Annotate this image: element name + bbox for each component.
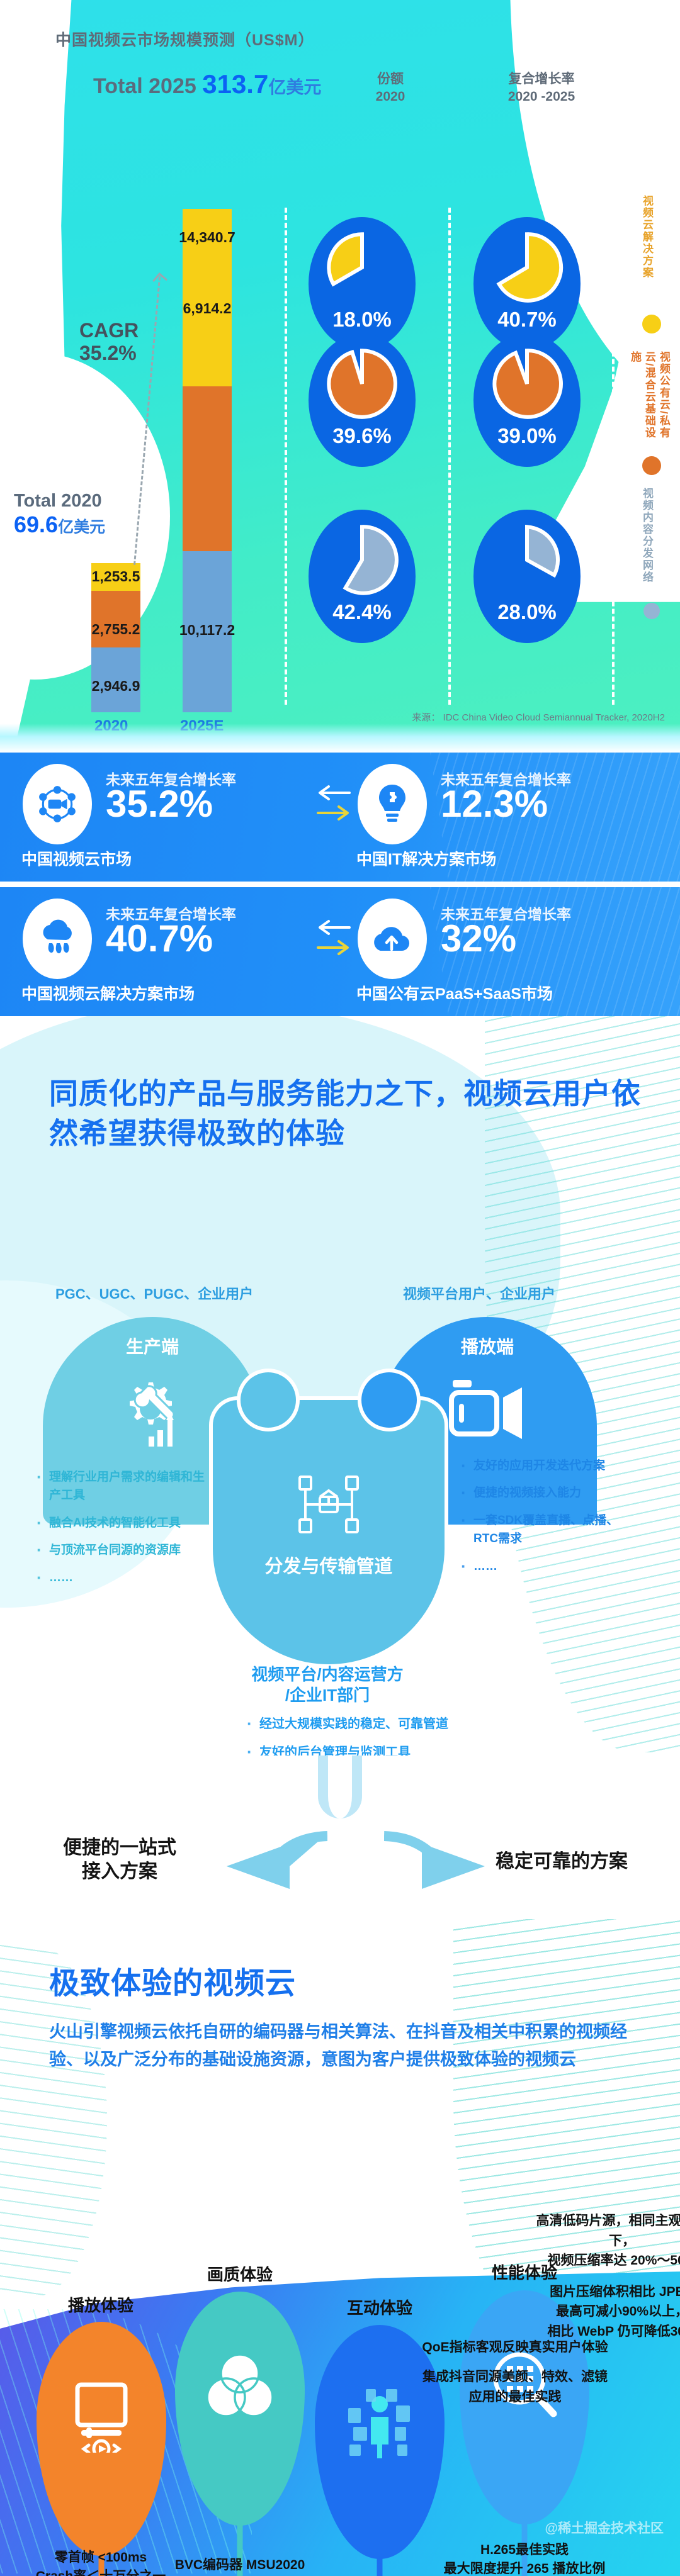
stat-value: 12.3% (441, 785, 548, 823)
pie-share-cdn: 42.4% (309, 510, 416, 643)
list-item: …… (35, 1569, 208, 1587)
stat-card-video-cloud-solution-market: 未来五年复合增长率 40.7% 中国视频云解决方案市场 (18, 887, 326, 1016)
puzzle-notch-left (241, 1372, 296, 1428)
card-body-performance: H.265最佳实践 最大限度提升 265 播放比例 (444, 2541, 606, 2576)
list-item: 一套SDK覆盖直播、点播、RTC需求 (460, 1511, 633, 1548)
chart-source-note: 来源： IDC China Video Cloud Semiannual Tra… (412, 710, 665, 724)
card-line: 应用的最佳实践 (383, 2387, 647, 2408)
divider-dashed-3 (612, 208, 615, 705)
swap-arrows-icon (315, 917, 353, 961)
card-title-quality: 画质体验 (207, 2262, 273, 2285)
arrow-left-icon (208, 1830, 327, 1899)
card-line: H.265最佳实践 (444, 2541, 606, 2560)
bar-2020-label-infra: 2,755.2 (92, 621, 140, 638)
legend-dot-solution (642, 315, 661, 333)
card-line: 图片压缩体积相比 JPEG (528, 2282, 680, 2302)
stat-value: 32% (441, 920, 516, 958)
watermark: @稀土掘金技术社区 (545, 2518, 664, 2537)
stat-value: 35.2% (106, 785, 213, 823)
cloud-upload-icon (358, 899, 427, 979)
column-head-cagr: 复合增长率 2020 -2025 (463, 70, 620, 106)
card-line: 最大限度提升 265 播放比例 (444, 2560, 606, 2576)
final-section-description: 火山引擎视频云依托自研的编码器与相关算法、在抖音及相关中积累的视频经验、以及广泛… (49, 2019, 635, 2073)
bar-2020-label-solution: 1,253.5 (92, 568, 140, 585)
pie-cagr-infra-value: 39.0% (473, 424, 581, 448)
total-2025-prefix: Total 2025 (93, 74, 196, 98)
swap-arrows-icon (315, 783, 353, 827)
split-stem-shape (318, 1756, 362, 1818)
card-title-interaction: 互动体验 (347, 2295, 412, 2319)
cagr-head-line1: 复合增长率 (463, 70, 620, 88)
market-forecast-chart-section: 中国视频云市场规模预测（US$M） Total 2025 313.7亿美元 份额… (0, 0, 680, 753)
pie-share-solution-value: 18.0% (309, 308, 416, 332)
legend-dot-cdn (643, 603, 660, 619)
share-head-line2: 2020 (327, 88, 453, 106)
total-2020-unit: 亿美元 (58, 518, 105, 536)
pie-slice-icon (489, 230, 565, 305)
stat-card-it-solution-market: 未来五年复合增长率 12.3% 中国IT解决方案市场 (353, 753, 661, 882)
card-title-playback: 播放体验 (68, 2293, 133, 2316)
card-line: QoE指标客观反映真实用户体验 (383, 2338, 647, 2358)
video-camera-icon (446, 1376, 528, 1447)
stat-band-2: 未来五年复合增长率 40.7% 中国视频云解决方案市场 未来五年复合增长率 32… (0, 887, 680, 1016)
stat-caption: 中国视频云解决方案市场 (21, 982, 195, 1004)
pie-cagr-infra: 39.0% (473, 333, 581, 467)
split-label-left-line1: 便捷的一站式 (38, 1836, 201, 1860)
center-audience-line1: 视频平台/内容运营方 (233, 1664, 422, 1685)
bar-2020-segment-infra: 2,755.2 (91, 591, 140, 647)
stat-band-1: 未来五年复合增长率 35.2% 中国视频云市场 未来五年复合增长率 12.3% … (0, 753, 680, 882)
lightbulb-puzzle-icon (358, 764, 427, 844)
split-label-left: 便捷的一站式 接入方案 (38, 1836, 201, 1883)
bar-2020-segment-solution: 1,253.5 (91, 563, 140, 591)
center-audience-line2: /企业IT部门 (233, 1685, 422, 1706)
venn-circles-icon (205, 2352, 275, 2423)
cagr-callout-value: 35.2% (79, 342, 139, 365)
divider-dashed-2 (448, 208, 451, 705)
card-body-performance-extra: 高清低码片源，相同主观质量下， 视频压缩率达 20%～50% 图片压缩体积相比 … (528, 2211, 680, 2341)
puzzle-pipeline-card: 分发与传输管道 (213, 1400, 445, 1664)
cagr-head-line2: 2020 -2025 (463, 88, 620, 106)
bar-2025e-segment-cdn: 10,117.2 (183, 551, 232, 712)
legend-label-solution: 视频云解决方案 (639, 195, 654, 305)
list-item: 友好的应用开发迭代方案 (460, 1457, 633, 1475)
card-body-interaction-extra: QoE指标客观反映真实用户体验 集成抖音同源美颜、特效、滤镜 应用的最佳实践 (383, 2338, 647, 2408)
dome-production-title: 生产端 (126, 1333, 179, 1358)
bullet-list-playback: 友好的应用开发迭代方案 便捷的视频接入能力 一套SDK覆盖直播、点播、RTC需求… (460, 1457, 633, 1584)
pie-share-infra: 39.6% (309, 333, 416, 467)
user-tag-production: PGC、UGC、PUGC、企业用户 (55, 1283, 253, 1303)
video-camera-network-icon (23, 764, 92, 844)
cagr-callout-label: CAGR (79, 320, 139, 342)
dome-playback-title: 播放端 (461, 1333, 514, 1358)
stat-caption: 中国视频云市场 (21, 847, 132, 870)
card-line: 最高可减小90%以上， (528, 2302, 680, 2322)
list-item: 友好的后台管理与监测工具 (246, 1743, 541, 1756)
pie-cagr-solution: 40.7% (473, 217, 581, 350)
split-arrows-section: 便捷的一站式 接入方案 稳定可靠的方案 (0, 1756, 680, 1919)
bullet-list-pipeline: 经过大规模实践的稳定、可靠管道 友好的后台管理与监测工具 …… (246, 1715, 541, 1756)
bar-2025e-label-solution: 6,914.2 (183, 300, 232, 317)
pie-cagr-cdn-value: 28.0% (473, 600, 581, 624)
network-distribution-icon (295, 1473, 363, 1539)
legend-label-cdn: 视频内容分发网络 (639, 488, 654, 591)
user-tag-playback: 视频平台用户、企业用户 (403, 1283, 555, 1303)
bar-2025e-label-infra: 14,340.7 (179, 229, 235, 246)
user-experience-section: 同质化的产品与服务能力之下，视频云用户依然希望获得极致的体验 PGC、UGC、P… (0, 1016, 680, 1756)
gear-wrench-chart-icon (112, 1376, 193, 1457)
card-line: 高清低码片源，相同主观质量下， (528, 2211, 680, 2251)
list-item: 融合AI技术的智能化工具 (35, 1514, 208, 1532)
list-item: …… (460, 1557, 633, 1576)
card-tail (377, 2553, 383, 2576)
divider-dashed-1 (285, 208, 287, 705)
card-line: 视频压缩率达 20%～50% (528, 2251, 680, 2271)
share-head-line1: 份额 (327, 70, 453, 88)
total-2025-label: Total 2025 313.7亿美元 (93, 69, 321, 99)
card-line: Crash率＜十万分之一 (36, 2567, 166, 2576)
bar-2025e: 6,914.2 14,340.7 10,117.2 (183, 209, 232, 712)
list-item: 便捷的视频接入能力 (460, 1484, 633, 1502)
stat-caption: 中国公有云PaaS+SaaS市场 (356, 982, 553, 1004)
bottom-glow-gradient (0, 724, 680, 753)
total-2020-prefix: Total 2020 (14, 491, 105, 512)
card-line: BVC编码器 MSU2020 (175, 2556, 305, 2575)
legend-dot-infra (642, 456, 661, 475)
card-body-playback: 零首帧 <100ms Crash率＜十万分之一 (36, 2548, 166, 2576)
split-label-right: 稳定可靠的方案 (473, 1850, 650, 1874)
pie-slice-icon (324, 230, 400, 305)
pie-share-cdn-value: 42.4% (309, 600, 416, 624)
bar-2020-label-cdn: 2,946.9 (92, 678, 140, 695)
final-section-title: 极致体验的视频云 (49, 1958, 296, 2002)
list-item: 理解行业用户需求的编辑和生产工具 (35, 1468, 208, 1505)
pie-cagr-solution-value: 40.7% (473, 308, 581, 332)
pie-slice-icon (324, 522, 400, 598)
column-head-share: 份额 2020 (327, 70, 453, 106)
bar-2020: 1,253.5 2,755.2 2,946.9 (91, 563, 140, 712)
card-line: 集成抖音同源美颜、特效、滤镜 (383, 2367, 647, 2388)
section-headline: 同质化的产品与服务能力之下，视频云用户依然希望获得极致的体验 (49, 1074, 641, 1154)
card-line: 零首帧 <100ms (36, 2548, 166, 2567)
bar-2025e-label-cdn: 10,117.2 (179, 622, 235, 639)
list-item: 经过大规模实践的稳定、可靠管道 (246, 1715, 541, 1734)
total-2020-value: 69.6 (14, 512, 58, 537)
bar-2025e-segment-infra: 14,340.7 (183, 386, 232, 551)
card-body-quality: BVC编码器 MSU2020 17项评分冠军 (175, 2556, 305, 2576)
center-audience-label: 视频平台/内容运营方 /企业IT部门 (233, 1664, 422, 1705)
total-2025-value: 313.7 (202, 69, 268, 99)
pie-slice-icon (489, 346, 565, 422)
legend-label-infra: 视频公有云/私有云/混合云基础设施 (627, 351, 671, 445)
bar-2020-segment-cdn: 2,946.9 (91, 647, 140, 712)
pie-share-solution: 18.0% (309, 217, 416, 350)
pie-cagr-cdn: 28.0% (473, 510, 581, 643)
stat-caption: 中国IT解决方案市场 (356, 847, 496, 870)
puzzle-notch-right (361, 1372, 417, 1428)
list-item: 与顶流平台同源的资源库 (35, 1541, 208, 1559)
cloud-rain-icon (23, 899, 92, 979)
puzzle-pipeline-title: 分发与传输管道 (264, 1552, 392, 1578)
stat-card-public-cloud-market: 未来五年复合增长率 32% 中国公有云PaaS+SaaS市场 (353, 887, 661, 1016)
pie-slice-icon (324, 346, 400, 422)
chart-title: 中国视频云市场规模预测（US$M） (55, 28, 314, 50)
pie-slice-icon (489, 522, 565, 598)
pie-share-infra-value: 39.6% (309, 424, 416, 448)
stat-value: 40.7% (106, 920, 213, 958)
total-2025-unit: 亿美元 (268, 77, 321, 97)
total-2020-label: Total 2020 69.6亿美元 (14, 491, 105, 538)
cagr-callout: CAGR 35.2% (79, 320, 139, 365)
split-label-left-line2: 接入方案 (38, 1860, 201, 1884)
video-player-icon (71, 2382, 132, 2456)
bullet-list-production: 理解行业用户需求的编辑和生产工具 融合AI技术的智能化工具 与顶流平台同源的资源… (35, 1468, 208, 1596)
stat-card-video-cloud-market: 未来五年复合增长率 35.2% 中国视频云市场 (18, 753, 326, 882)
